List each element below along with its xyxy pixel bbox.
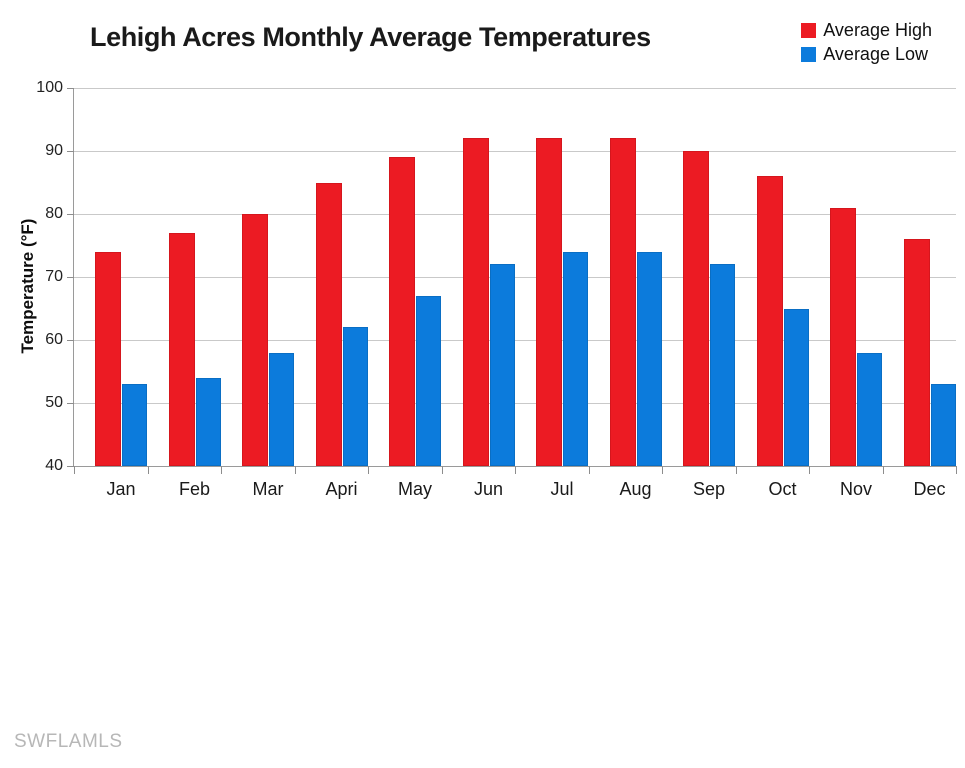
bar-average-low[interactable] bbox=[857, 353, 882, 466]
bar-average-low[interactable] bbox=[343, 327, 368, 466]
x-tick-label: Jan bbox=[106, 479, 135, 500]
y-tick-mark bbox=[67, 151, 74, 152]
x-tick-mark bbox=[74, 466, 75, 474]
bar-average-high[interactable] bbox=[683, 151, 709, 466]
x-tick-mark bbox=[295, 466, 296, 474]
x-tick-mark bbox=[442, 466, 443, 474]
bar-average-low[interactable] bbox=[416, 296, 441, 466]
x-tick-mark bbox=[883, 466, 884, 474]
legend-item-label: Average High bbox=[823, 20, 932, 41]
bar-average-high[interactable] bbox=[463, 138, 489, 466]
x-tick-label: Aug bbox=[619, 479, 651, 500]
y-tick-label: 40 bbox=[45, 457, 63, 475]
x-tick-label: Mar bbox=[253, 479, 284, 500]
bar-group bbox=[463, 88, 515, 466]
x-tick-mark bbox=[956, 466, 957, 474]
y-tick-label: 100 bbox=[36, 79, 63, 97]
x-tick-label: Sep bbox=[693, 479, 725, 500]
bar-group bbox=[536, 88, 588, 466]
x-tick-label: Nov bbox=[840, 479, 872, 500]
bar-group bbox=[830, 88, 882, 466]
x-tick-mark bbox=[368, 466, 369, 474]
x-tick-mark bbox=[515, 466, 516, 474]
y-tick-label: 50 bbox=[45, 394, 63, 412]
x-tick-label: Apri bbox=[325, 479, 357, 500]
x-tick-label: Oct bbox=[768, 479, 796, 500]
y-tick-mark bbox=[67, 403, 74, 404]
bar-average-high[interactable] bbox=[242, 214, 268, 466]
y-tick-label: 80 bbox=[45, 205, 63, 223]
bar-average-low[interactable] bbox=[784, 309, 809, 467]
bar-group bbox=[904, 88, 956, 466]
bar-average-low[interactable] bbox=[490, 264, 515, 466]
x-tick-mark bbox=[809, 466, 810, 474]
watermark: SWFLAMLS bbox=[14, 731, 123, 753]
y-tick-label: 90 bbox=[45, 142, 63, 160]
y-tick-mark bbox=[67, 277, 74, 278]
bar-group bbox=[757, 88, 809, 466]
x-tick-label: Jun bbox=[474, 479, 503, 500]
bar-average-high[interactable] bbox=[389, 157, 415, 466]
bar-average-low[interactable] bbox=[563, 252, 588, 466]
y-tick-mark bbox=[67, 88, 74, 89]
y-tick-label: 70 bbox=[45, 268, 63, 286]
x-tick-label: Feb bbox=[179, 479, 210, 500]
bar-group bbox=[242, 88, 294, 466]
bar-average-high[interactable] bbox=[169, 233, 195, 466]
y-tick-label: 60 bbox=[45, 331, 63, 349]
x-tick-mark bbox=[221, 466, 222, 474]
plot-area: 405060708090100JanFebMarApriMayJunJulAug… bbox=[73, 88, 955, 466]
chart-legend: Average HighAverage Low bbox=[801, 20, 932, 65]
bar-average-high[interactable] bbox=[536, 138, 562, 466]
x-tick-label: Dec bbox=[913, 479, 945, 500]
bar-average-low[interactable] bbox=[710, 264, 735, 466]
bar-average-high[interactable] bbox=[830, 208, 856, 466]
legend-item[interactable]: Average High bbox=[801, 20, 932, 41]
y-tick-mark bbox=[67, 340, 74, 341]
x-tick-mark bbox=[662, 466, 663, 474]
y-tick-mark bbox=[67, 214, 74, 215]
x-tick-label: Jul bbox=[550, 479, 573, 500]
bar-average-high[interactable] bbox=[904, 239, 930, 466]
bar-group bbox=[316, 88, 368, 466]
y-tick-mark bbox=[67, 466, 74, 467]
legend-item[interactable]: Average Low bbox=[801, 44, 932, 65]
bar-average-low[interactable] bbox=[122, 384, 147, 466]
bar-group bbox=[95, 88, 147, 466]
bar-average-low[interactable] bbox=[637, 252, 662, 466]
bar-average-high[interactable] bbox=[95, 252, 121, 466]
x-tick-label: May bbox=[398, 479, 432, 500]
bar-average-high[interactable] bbox=[316, 183, 342, 467]
bar-average-high[interactable] bbox=[757, 176, 783, 466]
y-axis-label: Temperature (°F) bbox=[18, 176, 38, 396]
bar-average-high[interactable] bbox=[610, 138, 636, 466]
page-title: Lehigh Acres Monthly Average Temperature… bbox=[90, 22, 651, 53]
x-tick-mark bbox=[589, 466, 590, 474]
bar-group bbox=[610, 88, 662, 466]
bar-average-low[interactable] bbox=[931, 384, 956, 466]
red-square-icon bbox=[801, 23, 816, 38]
bar-average-low[interactable] bbox=[196, 378, 221, 466]
legend-item-label: Average Low bbox=[823, 44, 928, 65]
bar-group bbox=[389, 88, 441, 466]
blue-square-icon bbox=[801, 47, 816, 62]
bar-group bbox=[683, 88, 735, 466]
x-tick-mark bbox=[736, 466, 737, 474]
bar-average-low[interactable] bbox=[269, 353, 294, 466]
x-tick-mark bbox=[148, 466, 149, 474]
bar-group bbox=[169, 88, 221, 466]
